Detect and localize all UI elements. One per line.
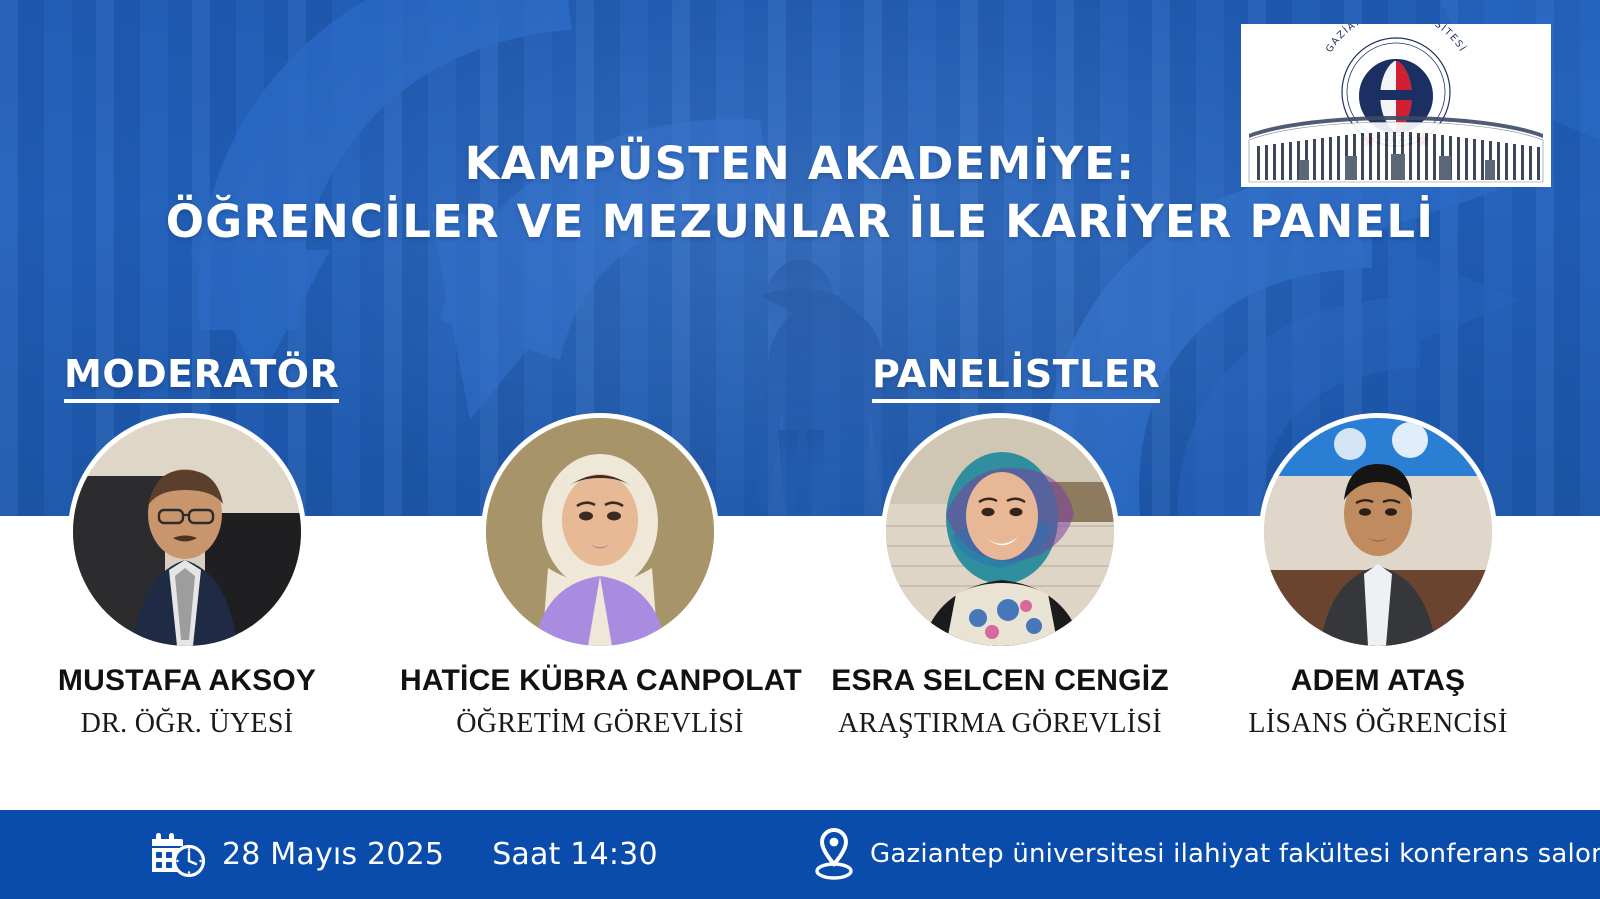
speaker-name: ESRA SELCEN CENGİZ (800, 664, 1200, 698)
avatar (886, 418, 1114, 646)
footer-location: Gaziantep üniversitesi ilahiyat fakültes… (870, 839, 1600, 869)
speaker-name: MUSTAFA AKSOY (0, 664, 387, 698)
gaziantep-universitesi-logo-graphic: GAZİANTEP ÜNİVERSİTESİ 1973 (1241, 24, 1551, 187)
speaker-title: DR. ÖĞR. ÜYESİ (0, 708, 387, 740)
map-pin-icon (812, 826, 856, 882)
speaker-title: ÖĞRETİM GÖREVLİSİ (400, 708, 800, 740)
footer-time: Saat 14:30 (492, 837, 658, 872)
moderator-label: MODERATÖR (64, 352, 339, 403)
speaker-card: HATİCE KÜBRA CANPOLAT ÖĞRETİM GÖREVLİSİ (400, 418, 800, 740)
logo-building (1249, 116, 1543, 182)
portrait-photo-panelist-3 (1264, 418, 1492, 646)
speakers-row: MUSTAFA AKSOY DR. ÖĞR. ÜYESİ (0, 418, 1600, 778)
footer-bar: 28 Mayıs 2025 Saat 14:30 Gaziantep ünive… (0, 810, 1600, 899)
speaker-card: ADEM ATAŞ LİSANS ÖĞRENCİSİ (1178, 418, 1578, 740)
section-heading-moderator: MODERATÖR (64, 352, 339, 403)
speaker-name: HATİCE KÜBRA CANPOLAT (400, 664, 800, 698)
calendar-clock-icon (152, 826, 208, 882)
university-logo: GAZİANTEP ÜNİVERSİTESİ 1973 (1241, 24, 1551, 187)
speaker-name: ADEM ATAŞ (1178, 664, 1578, 698)
panelists-label: PANELİSTLER (872, 352, 1160, 403)
portrait-photo-panelist-2 (886, 418, 1114, 646)
speaker-title: ARAŞTIRMA GÖREVLİSİ (800, 708, 1200, 740)
footer-location-group: Gaziantep üniversitesi ilahiyat fakültes… (812, 826, 1600, 882)
logo-globe-mark (1360, 60, 1432, 132)
portrait-photo-panelist-1 (486, 418, 714, 646)
avatar (73, 418, 301, 646)
section-heading-panelists: PANELİSTLER (872, 352, 1160, 403)
footer-date-group: 28 Mayıs 2025 Saat 14:30 (152, 826, 658, 882)
avatar (486, 418, 714, 646)
avatar (1264, 418, 1492, 646)
speaker-card: MUSTAFA AKSOY DR. ÖĞR. ÜYESİ (0, 418, 387, 740)
event-poster: KAMPÜSTEN AKADEMİYE: ÖĞRENCİLER VE MEZUN… (0, 0, 1600, 899)
speaker-card: ESRA SELCEN CENGİZ ARAŞTIRMA GÖREVLİSİ (800, 418, 1200, 740)
footer-date: 28 Mayıs 2025 (222, 837, 444, 872)
speaker-title: LİSANS ÖĞRENCİSİ (1178, 708, 1578, 740)
portrait-photo-moderator (73, 418, 301, 646)
